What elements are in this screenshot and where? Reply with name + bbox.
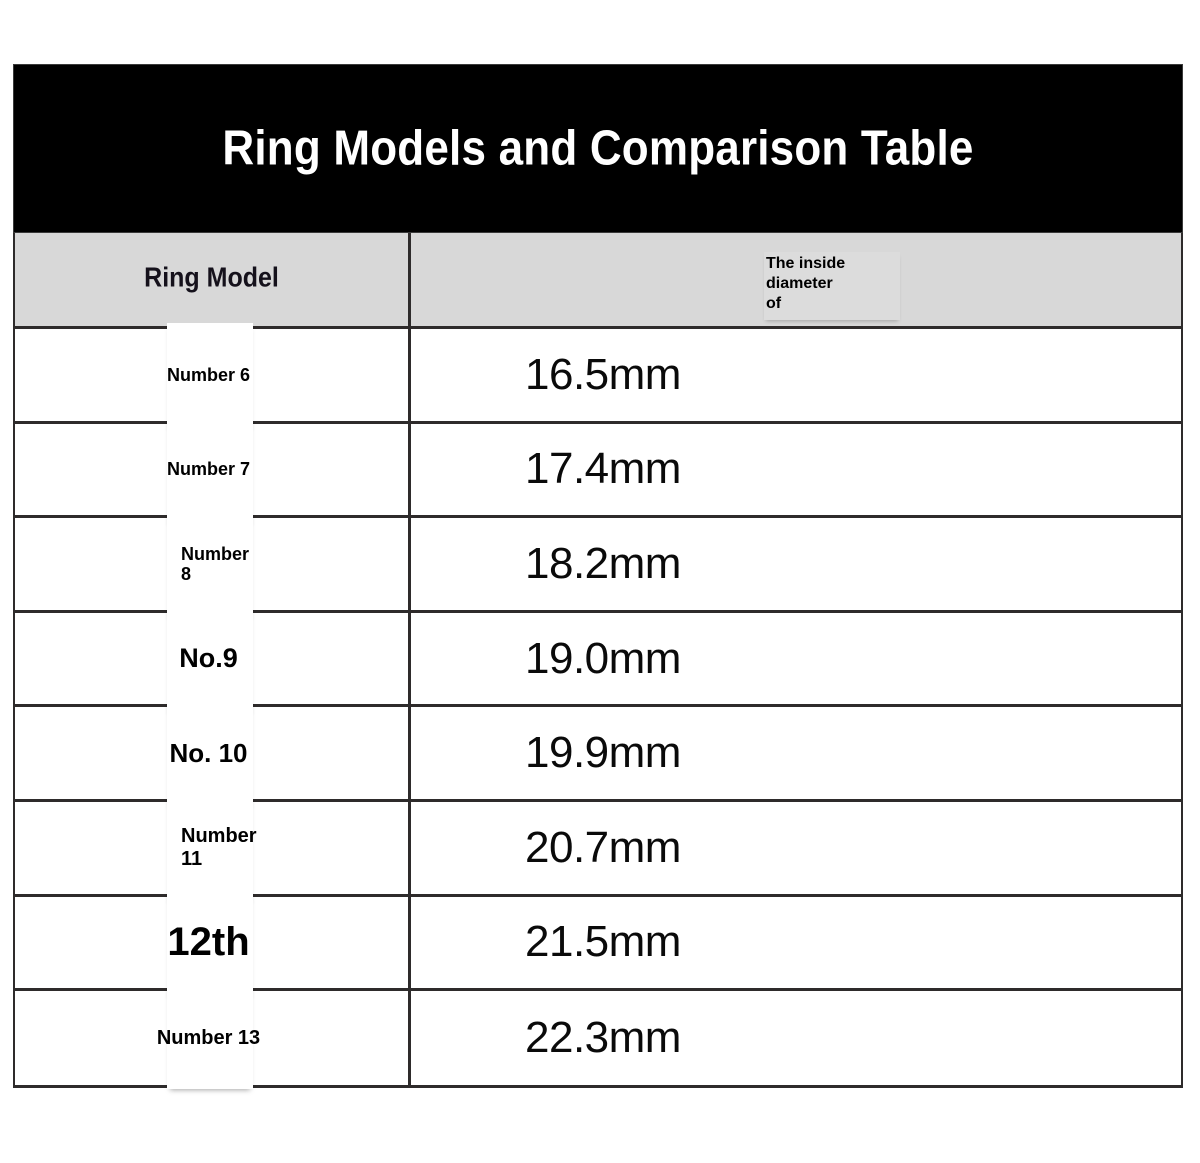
ring-size-table-page: Ring Models and Comparison Table Ring Mo…	[0, 0, 1200, 1163]
ring-model-value: Number 8	[15, 518, 408, 610]
table-row: 12th 21.5mm	[15, 897, 1181, 992]
table-row: Number 11 20.7mm	[15, 802, 1181, 897]
table-header-row: Ring Model The inside diameter of	[15, 233, 1181, 329]
cell-ring-model: No. 10	[15, 707, 411, 799]
cell-ring-model: Number 8	[15, 518, 411, 610]
header-cell-model: Ring Model	[15, 233, 411, 326]
inside-diameter-value: 19.0mm	[411, 613, 1181, 705]
table-row: No. 10 19.9mm	[15, 707, 1181, 802]
inside-diameter-value: 22.3mm	[411, 991, 1181, 1086]
cell-ring-model: Number 6	[15, 329, 411, 421]
cell-inside-diameter: 17.4mm	[411, 424, 1181, 516]
cell-ring-model: No.9	[15, 613, 411, 705]
cell-ring-model: Number 13	[15, 991, 411, 1086]
comparison-table: Ring Models and Comparison Table Ring Mo…	[13, 64, 1183, 1088]
title-banner: Ring Models and Comparison Table	[13, 64, 1183, 233]
table-grid: Ring Model The inside diameter of Number…	[13, 233, 1183, 1088]
inside-diameter-value: 20.7mm	[411, 802, 1181, 894]
cell-inside-diameter: 22.3mm	[411, 991, 1181, 1086]
table-row: Number 7 17.4mm	[15, 424, 1181, 519]
page-title: Ring Models and Comparison Table	[222, 124, 973, 173]
inside-diameter-value: 17.4mm	[411, 424, 1181, 516]
ring-model-value: Number 6	[15, 329, 408, 421]
table-row: Number 13 22.3mm	[15, 991, 1181, 1086]
table-row: Number 6 16.5mm	[15, 329, 1181, 424]
inside-diameter-value: 21.5mm	[411, 897, 1181, 989]
cell-inside-diameter: 16.5mm	[411, 329, 1181, 421]
table-row: Number 8 18.2mm	[15, 518, 1181, 613]
column-header-inside-diameter: The inside diameter of	[764, 252, 900, 320]
inside-diameter-value: 16.5mm	[411, 329, 1181, 421]
inside-diameter-value: 18.2mm	[411, 518, 1181, 610]
cell-inside-diameter: 18.2mm	[411, 518, 1181, 610]
column-header-ring-model: Ring Model	[15, 263, 408, 295]
ring-model-value: Number 7	[15, 424, 408, 516]
cell-ring-model: 12th	[15, 897, 411, 989]
ring-model-value: Number 13	[15, 991, 408, 1086]
cell-ring-model: Number 11	[15, 802, 411, 894]
ring-model-value: No.9	[15, 613, 408, 705]
ring-model-value: No. 10	[15, 707, 408, 799]
cell-inside-diameter: 19.0mm	[411, 613, 1181, 705]
header-cell-diameter: The inside diameter of	[411, 233, 1181, 326]
cell-inside-diameter: 20.7mm	[411, 802, 1181, 894]
cell-ring-model: Number 7	[15, 424, 411, 516]
ring-model-value: 12th	[15, 897, 408, 989]
table-row: No.9 19.0mm	[15, 613, 1181, 708]
cell-inside-diameter: 21.5mm	[411, 897, 1181, 989]
ring-model-value: Number 11	[15, 802, 408, 894]
inside-diameter-value: 19.9mm	[411, 707, 1181, 799]
cell-inside-diameter: 19.9mm	[411, 707, 1181, 799]
